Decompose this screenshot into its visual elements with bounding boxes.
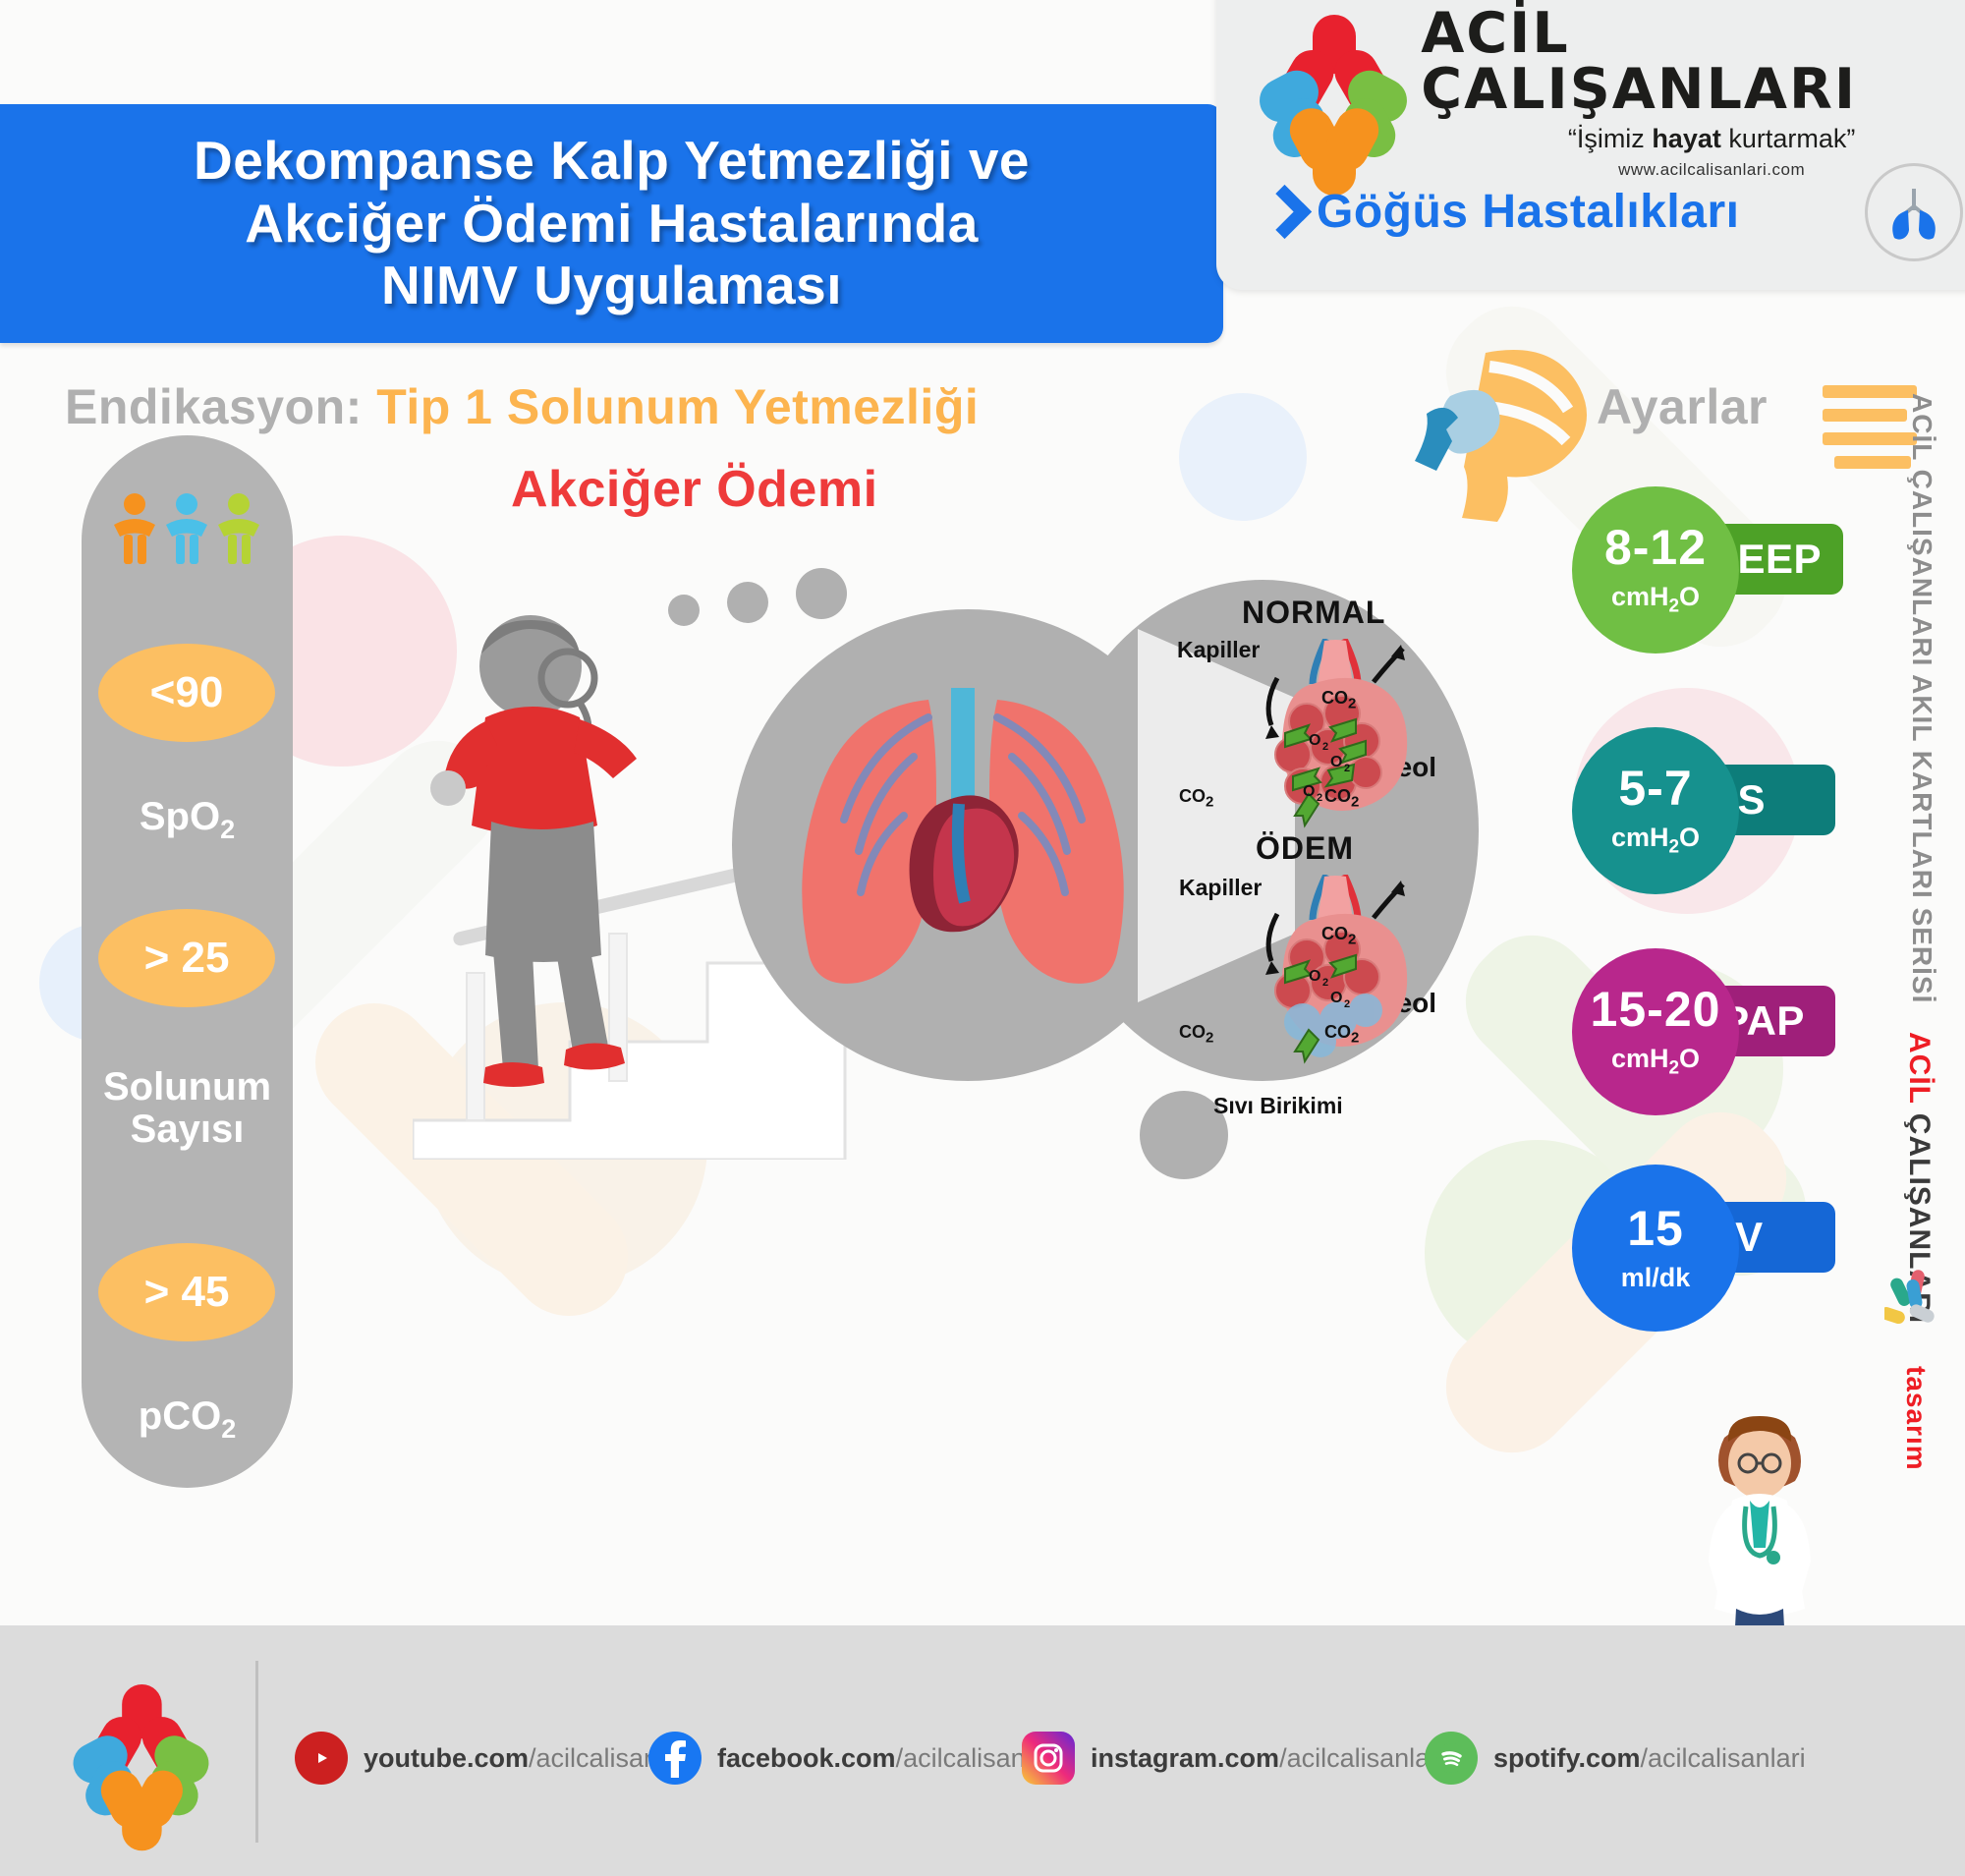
settings-title: Ayarlar [1597, 378, 1768, 435]
instagram-handle: /acilcalisanlari [1279, 1743, 1444, 1773]
brand-row: ACİL ÇALIŞANLARI “İşimiz hayat kurtarmak… [1265, 6, 1965, 180]
setting-unit-peep: cmH2O [1611, 582, 1700, 617]
unit-pre-tv: ml/dk [1621, 1263, 1691, 1292]
gas-co2-sub-1: 2 [1348, 696, 1356, 712]
slogan-bold: hayat [1652, 124, 1721, 153]
alveolus-odem-co2-2: CO2 [1179, 1022, 1213, 1047]
setting-circle-tv: 15 ml/dk [1572, 1165, 1739, 1332]
gas-co2-label-3: CO [1324, 786, 1351, 806]
gas-co2-label-2: CO [1179, 786, 1206, 806]
acil-calisanlari-logo [79, 1684, 216, 1842]
gas-co2-sub-6: 2 [1351, 1030, 1359, 1047]
brand-side-red: ACİL [1903, 1032, 1936, 1113]
spotify-domain: spotify.com [1493, 1743, 1641, 1773]
svg-text:O: O [1330, 754, 1342, 770]
gas-co2-sub-5: 2 [1206, 1030, 1213, 1047]
spotify-icon [1425, 1732, 1478, 1785]
svg-text:O: O [1330, 990, 1342, 1006]
spotify-handle: /acilcalisanlari [1641, 1743, 1806, 1773]
youtube-icon [295, 1732, 348, 1785]
alveolus-normal-graphic: O2 O2 O2 [1208, 639, 1434, 855]
brand-card: ACİL ÇALIŞANLARI “İşimiz hayat kurtarmak… [1216, 0, 1965, 290]
alveolus-odem-title: ÖDEM [1256, 830, 1354, 867]
alveolus-odem-co2-3: CO2 [1324, 1022, 1359, 1047]
title-line-3: NIMV Uygulaması [194, 255, 1030, 317]
svg-text:O: O [1309, 732, 1320, 749]
indication-heading: Endikasyon: Tip 1 Solunum Yetmezliği [65, 378, 979, 435]
alveolus-normal-co2-3: CO2 [1324, 786, 1359, 811]
department-row: Göğüs Hastalıkları [1260, 185, 1739, 239]
alveolus-odem-co2-1: CO2 [1321, 924, 1356, 948]
setting-unit-tv: ml/dk [1621, 1263, 1691, 1293]
pills-icon [1884, 1268, 1943, 1334]
setting-row-ps[interactable]: PS 5-7 cmH2O [1572, 727, 1739, 894]
social-facebook[interactable]: facebook.com/acilcalisanlari [648, 1732, 1061, 1785]
alveolus-normal-title: NORMAL [1242, 595, 1385, 631]
series-side-text: ACİL ÇALIŞANLARI AKIL KARTLARI SERİSİ [1906, 393, 1937, 1003]
svg-text:O: O [1303, 783, 1315, 800]
setting-value-peep: 8-12 [1604, 523, 1707, 572]
title-line-2: Akciğer Ödemi Hastalarında [194, 193, 1030, 256]
alveolus-fluid-label: Sıvı Birikimi [1213, 1093, 1343, 1119]
people-group-icon [110, 491, 267, 570]
social-instagram[interactable]: instagram.com/acilcalisanlari [1022, 1732, 1444, 1785]
footer-divider [255, 1661, 258, 1843]
setting-row-peep[interactable]: PEEP 8-12 cmH2O [1572, 486, 1739, 654]
unit-post-ipap: O [1679, 1044, 1700, 1073]
setting-value-ps: 5-7 [1618, 764, 1692, 813]
svg-text:2: 2 [1322, 741, 1328, 753]
acil-calisanlari-logo [1265, 15, 1397, 172]
setting-row-ipap[interactable]: IPAP 15-20 cmH2O [1572, 948, 1739, 1115]
slogan-post: kurtarmak” [1721, 124, 1856, 153]
setting-unit-ipap: cmH2O [1611, 1044, 1700, 1079]
setting-circle-ps: 5-7 cmH2O [1572, 727, 1739, 894]
svg-text:O: O [1309, 968, 1320, 985]
social-spotify-text: spotify.com/acilcalisanlari [1493, 1743, 1806, 1774]
setting-circle-peep: 8-12 cmH2O [1572, 486, 1739, 654]
setting-value-tv: 15 [1627, 1204, 1684, 1253]
lungs-icon [1865, 163, 1963, 261]
criteria-label-spo2-text: SpO [140, 795, 220, 838]
youtube-domain: youtube.com [364, 1743, 529, 1773]
criteria-label-spo2-sub: 2 [220, 815, 235, 844]
gas-co2-label-4: CO [1321, 924, 1348, 943]
setting-circle-ipap: 15-20 cmH2O [1572, 948, 1739, 1115]
svg-text:2: 2 [1317, 792, 1322, 804]
page-title: Dekompanse Kalp Yetmezliği ve Akciğer Öd… [194, 130, 1030, 317]
designer-side-text: tasarım [1900, 1366, 1932, 1471]
gas-co2-sub-3: 2 [1351, 794, 1359, 811]
hamburger-icon[interactable] [1823, 385, 1917, 446]
unit-pre-peep: cmH [1611, 582, 1669, 611]
brand-slogan: “İşimiz hayat kurtarmak” [1421, 124, 1965, 154]
social-facebook-text: facebook.com/acilcalisanlari [717, 1743, 1061, 1774]
instagram-domain: instagram.com [1091, 1743, 1279, 1773]
slogan-pre: “İşimiz [1568, 124, 1652, 153]
gas-co2-label-1: CO [1321, 688, 1348, 708]
alveolus-normal-co2-1: CO2 [1321, 688, 1356, 712]
criteria-label-rr: Solunum Sayısı [82, 1066, 293, 1151]
social-instagram-text: instagram.com/acilcalisanlari [1091, 1743, 1444, 1774]
social-spotify[interactable]: spotify.com/acilcalisanlari [1425, 1732, 1806, 1785]
unit-sub-ipap: 2 [1668, 1057, 1679, 1078]
unit-pre-ps: cmH [1611, 823, 1669, 852]
facebook-icon [648, 1732, 702, 1785]
criteria-label-pco2: pCO2 [82, 1395, 293, 1444]
decor-circle-blue-1 [1179, 393, 1307, 521]
gas-co2-label-6: CO [1324, 1022, 1351, 1042]
title-line-1: Dekompanse Kalp Yetmezliği ve [194, 130, 1030, 193]
criteria-label-pco2-sub: 2 [221, 1414, 236, 1444]
criteria-label-spo2: SpO2 [82, 796, 293, 844]
unit-sub-peep: 2 [1668, 596, 1679, 616]
criteria-value-spo2: <90 [98, 644, 275, 742]
unit-pre-ipap: cmH [1611, 1044, 1669, 1073]
social-youtube-text: youtube.com/acilcalisanlari [364, 1743, 694, 1774]
unit-sub-ps: 2 [1668, 836, 1679, 857]
unit-post-ps: O [1679, 823, 1700, 852]
chevron-right-icon [1260, 187, 1295, 238]
infographic-poster: Dekompanse Kalp Yetmezliği ve Akciğer Öd… [0, 0, 1965, 1876]
footer-bar: youtube.com/acilcalisanlari facebook.com… [0, 1625, 1965, 1876]
instagram-icon [1022, 1732, 1075, 1785]
indication-label: Endikasyon: [65, 379, 363, 434]
alveolus-normal-co2-2: CO2 [1179, 786, 1213, 811]
facebook-domain: facebook.com [717, 1743, 896, 1773]
criteria-value-rr: > 25 [98, 909, 275, 1007]
svg-text:2: 2 [1344, 998, 1350, 1010]
brand-name: ACİL ÇALIŞANLARI [1421, 6, 1965, 118]
department-name: Göğüs Hastalıkları [1317, 185, 1739, 239]
criteria-label-pco2-text: pCO [139, 1394, 221, 1438]
gas-co2-sub-2: 2 [1206, 794, 1213, 811]
social-youtube[interactable]: youtube.com/acilcalisanlari [295, 1732, 694, 1785]
criteria-value-pco2: > 45 [98, 1243, 275, 1341]
alveolus-odem-graphic: O2 O2 [1208, 875, 1434, 1091]
unit-post-peep: O [1679, 582, 1700, 611]
svg-text:2: 2 [1344, 763, 1350, 774]
svg-text:2: 2 [1322, 977, 1328, 989]
gas-co2-sub-4: 2 [1348, 932, 1356, 948]
gas-co2-label-5: CO [1179, 1022, 1206, 1042]
indication-highlight: Tip 1 Solunum Yetmezliği [376, 379, 979, 434]
setting-value-ipap: 15-20 [1591, 985, 1721, 1034]
setting-row-tv[interactable]: TV 15 ml/dk [1572, 1165, 1739, 1332]
setting-unit-ps: cmH2O [1611, 823, 1700, 858]
poster-title-band: Dekompanse Kalp Yetmezliği ve Akciğer Öd… [0, 104, 1223, 343]
indication-subtitle: Akciğer Ödemi [511, 460, 878, 519]
